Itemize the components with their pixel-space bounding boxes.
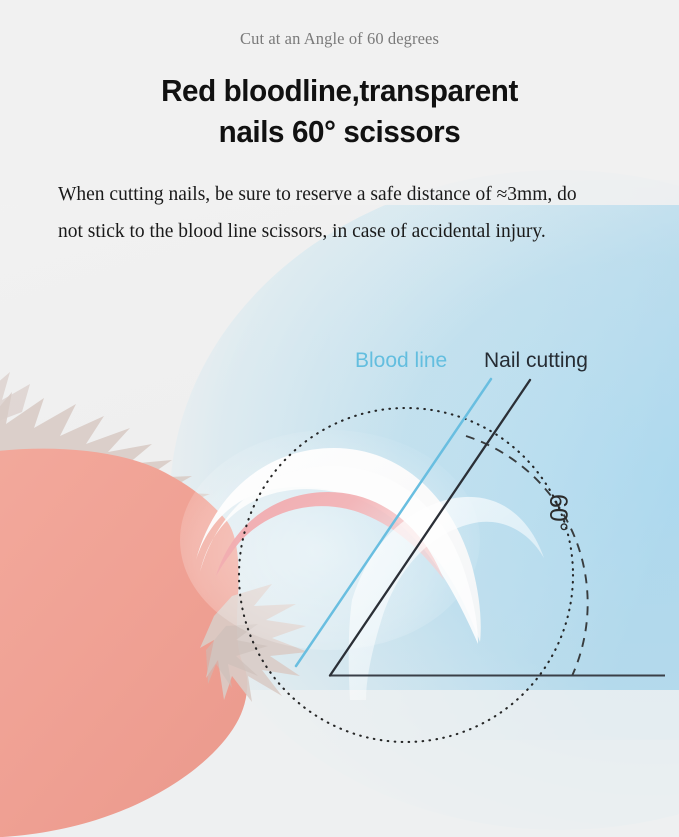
angle-degree-label: 60° bbox=[543, 494, 572, 532]
nail-cutting-label: Nail cutting bbox=[484, 349, 588, 373]
page-title: Red bloodline,transparent nails 60° scis… bbox=[10, 49, 669, 153]
infographic-page: Cut at an Angle of 60 degrees Red bloodl… bbox=[0, 0, 679, 837]
page-title-line-2: nails 60° scissors bbox=[219, 115, 461, 149]
eyebrow-text: Cut at an Angle of 60 degrees bbox=[0, 0, 679, 49]
text-content: Cut at an Angle of 60 degrees Red bloodl… bbox=[0, 0, 679, 251]
page-title-line-1: Red bloodline,transparent bbox=[161, 74, 518, 108]
blood-line-label: Blood line bbox=[355, 349, 447, 373]
description-paragraph: When cutting nails, be sure to reserve a… bbox=[0, 153, 578, 250]
